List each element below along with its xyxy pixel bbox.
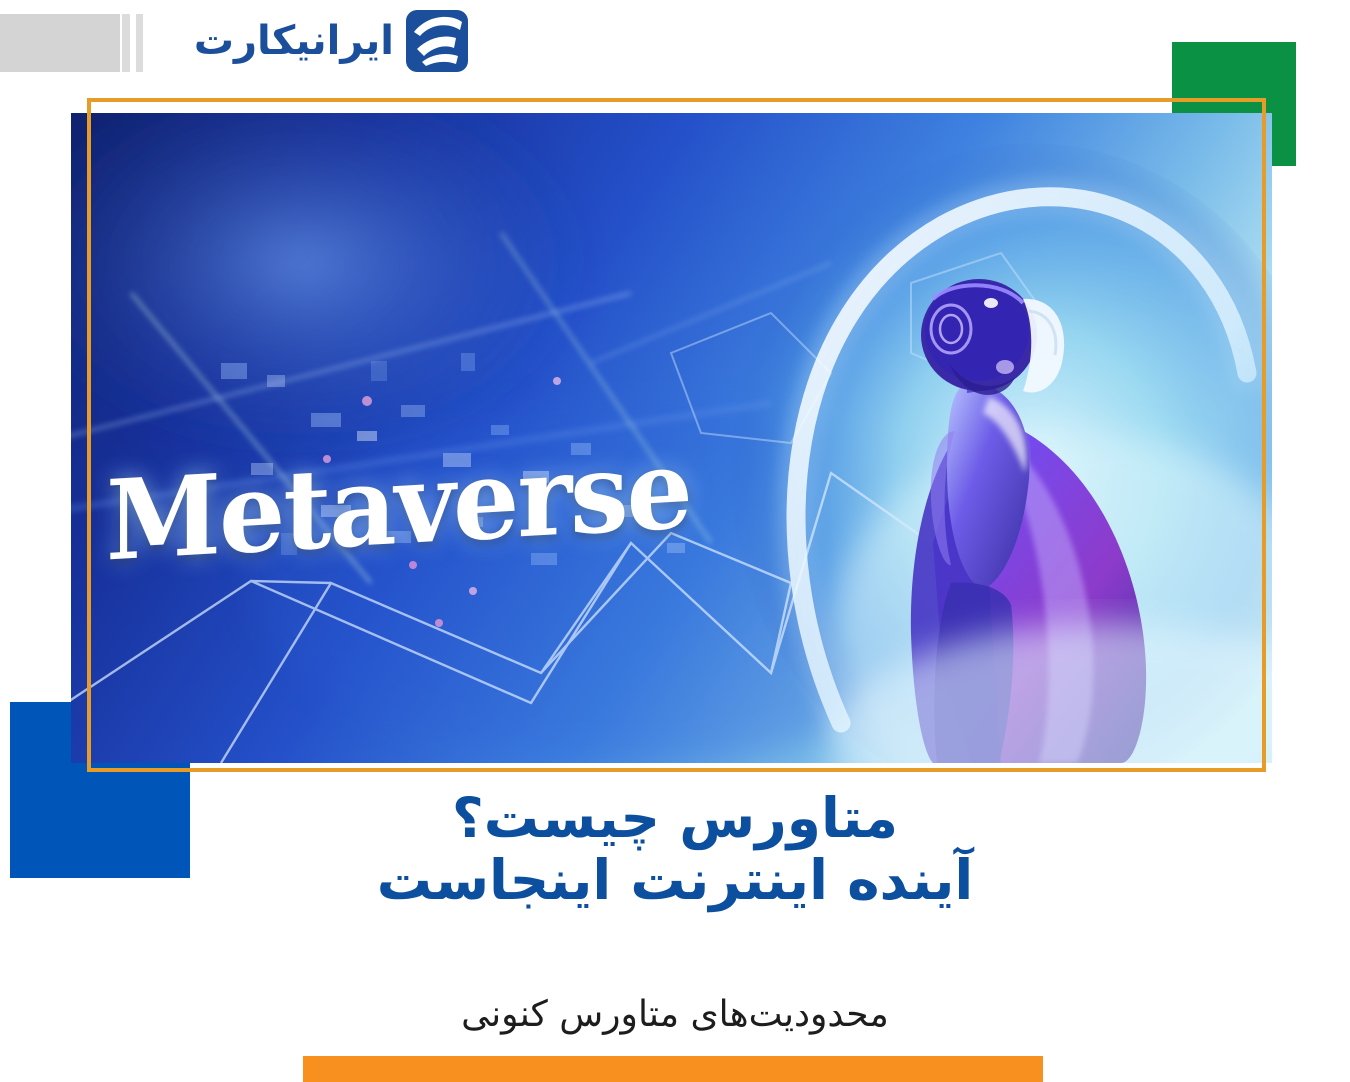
brand-name: ایرانیکارت [194, 21, 394, 61]
orange-outline-frame [87, 98, 1266, 772]
brand-logo[interactable]: ایرانیکارت [194, 8, 470, 74]
subtitle-text: محدودیت‌های متاورس کنونی [0, 992, 1350, 1037]
grey-accent-stripe-2 [136, 14, 143, 72]
headline-line-1: متاورس چیست؟ [0, 788, 1350, 850]
headline-block: متاورس چیست؟ آینده اینترنت اینجاست [0, 788, 1350, 911]
grey-accent-bar [0, 14, 120, 72]
headline-line-2: آینده اینترنت اینجاست [0, 850, 1350, 912]
grey-accent-stripe-1 [122, 14, 130, 72]
iranicart-swoosh-logo-icon [404, 8, 470, 74]
bottom-orange-bar [303, 1056, 1043, 1082]
poster-canvas: ایرانیکارت [0, 0, 1350, 1080]
